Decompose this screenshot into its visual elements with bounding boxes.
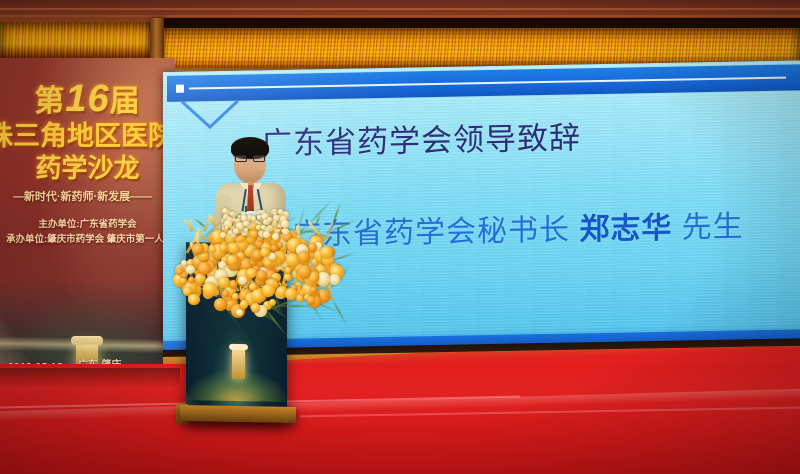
flower-bloom <box>220 244 227 251</box>
flower-bloom <box>188 294 200 306</box>
slide-speaker-name: 郑志华 <box>579 212 672 247</box>
banner-title-line3: 药学沙龙 <box>0 155 175 181</box>
flower-filler <box>281 220 289 228</box>
flower-filler <box>257 215 261 219</box>
slide-header-band <box>167 64 800 102</box>
flower-bloom <box>298 251 310 263</box>
flower-bloom <box>198 262 211 275</box>
banner-title-prefix: 第 <box>34 85 65 118</box>
flower-bloom <box>329 274 340 285</box>
banner-organizer-line2: 承办单位:肇庆市药学会 肇庆市第一人民医院 <box>6 232 175 247</box>
banner-title-number: 16 <box>65 78 109 120</box>
flower-filler <box>244 228 248 232</box>
flower-filler <box>243 221 248 226</box>
flower-bloom <box>320 246 333 259</box>
banner-title-line1: 第16届 <box>0 80 175 118</box>
flower-filler <box>256 225 261 230</box>
flower-bloom <box>180 278 186 284</box>
flower-filler <box>261 225 265 229</box>
flower-bloom <box>229 243 240 254</box>
flower-bloom <box>227 255 237 265</box>
flower-bloom <box>307 296 315 304</box>
flower-bloom <box>176 268 183 275</box>
slide-honorific: 先生 <box>672 210 743 244</box>
slide-title: 广东省药学会领导致辞 <box>261 112 581 163</box>
flower-bloom <box>240 300 248 308</box>
flower-filler <box>228 230 232 234</box>
flower-bloom <box>310 287 316 293</box>
banner-organizers: 主办单位:广东省药学会 承办单位:肇庆市药学会 肇庆市第一人民医院 <box>0 217 175 247</box>
flower-bloom <box>192 243 204 255</box>
flower-filler <box>225 226 229 230</box>
slide-header-rule <box>189 77 786 90</box>
flower-bloom <box>285 288 297 300</box>
flower-arrangement <box>178 206 343 318</box>
flower-bloom <box>256 270 266 280</box>
glasses-icon <box>235 155 265 162</box>
flower-bloom <box>246 268 257 279</box>
slide-header-square-icon <box>176 85 184 93</box>
flower-bloom <box>285 267 292 274</box>
conference-stage-photo: 第16届 珠三角地区医院 药学沙龙 —新时代·新药师·新发展—— 主办单位:广东… <box>0 0 800 474</box>
slide-subtitle: 广东省药学会秘书长 郑志华 先生 <box>291 201 744 253</box>
podium-base <box>180 405 296 423</box>
flower-bloom <box>229 280 237 288</box>
banner-organizer-line1: 主办单位:广东省药学会 <box>0 217 175 232</box>
chevron-down-icon <box>179 99 241 132</box>
flower-bloom <box>186 265 195 274</box>
flower-bloom <box>188 277 195 284</box>
banner-title-suffix: 届 <box>110 85 141 118</box>
banner-title-line2: 珠三角地区医院 <box>0 123 175 150</box>
flower-bloom <box>203 282 217 296</box>
banner-base-shadow <box>0 368 180 388</box>
banner-headline: 第16届 珠三角地区医院 药学沙龙 —新时代·新药师·新发展—— <box>0 80 175 204</box>
podium-tower-icon <box>232 349 245 379</box>
flower-spike <box>189 219 192 233</box>
gold-wall-panel-left <box>0 22 152 58</box>
flower-bloom <box>232 293 239 300</box>
flower-filler <box>273 215 279 221</box>
flower-bloom <box>218 277 229 288</box>
flower-bloom <box>284 273 292 281</box>
flower-filler <box>278 209 283 214</box>
banner-subtitle: —新时代·新药师·新发展—— <box>0 188 175 204</box>
flower-bloom <box>264 259 272 267</box>
